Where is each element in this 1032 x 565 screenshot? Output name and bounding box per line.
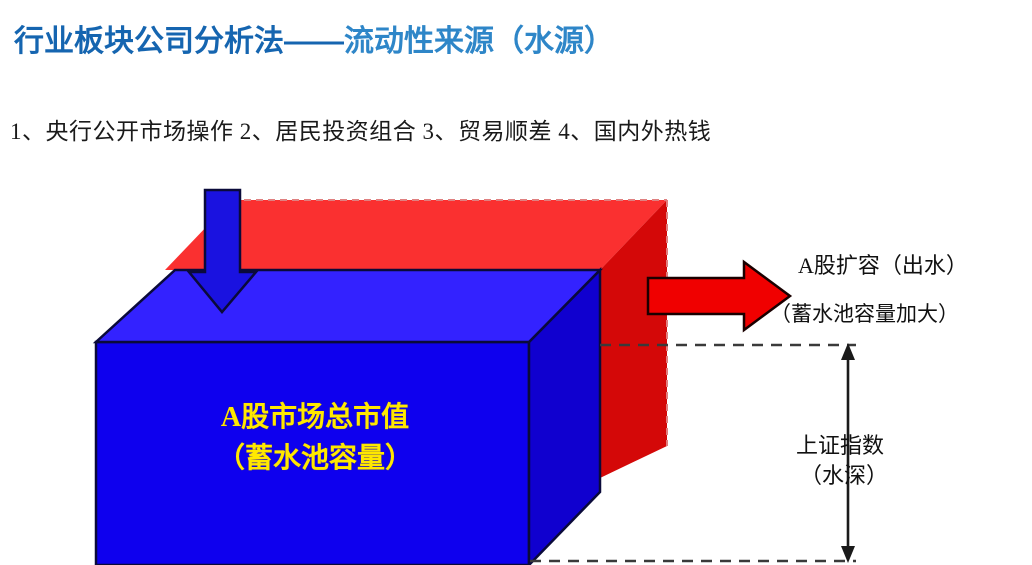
water-box-caption: A股市场总市值 （蓄水池容量） (150, 398, 480, 479)
slide-root: 行业板块公司分析法——流动性来源（水源） 1、央行公开市场操作 2、居民投资组合… (0, 0, 1032, 565)
label-expand-line1: A股扩容（出水） (798, 248, 968, 280)
outflow-right-arrow (648, 262, 790, 330)
water-box-caption-line2: （蓄水池容量） (150, 439, 480, 480)
water-box-top-face (96, 270, 600, 342)
label-index-line2: （水深） (800, 458, 888, 490)
label-index-line1: 上证指数 (796, 428, 884, 460)
label-expand-line2: （蓄水池容量加大） (770, 298, 959, 328)
water-box-caption-line1: A股市场总市值 (150, 398, 480, 439)
